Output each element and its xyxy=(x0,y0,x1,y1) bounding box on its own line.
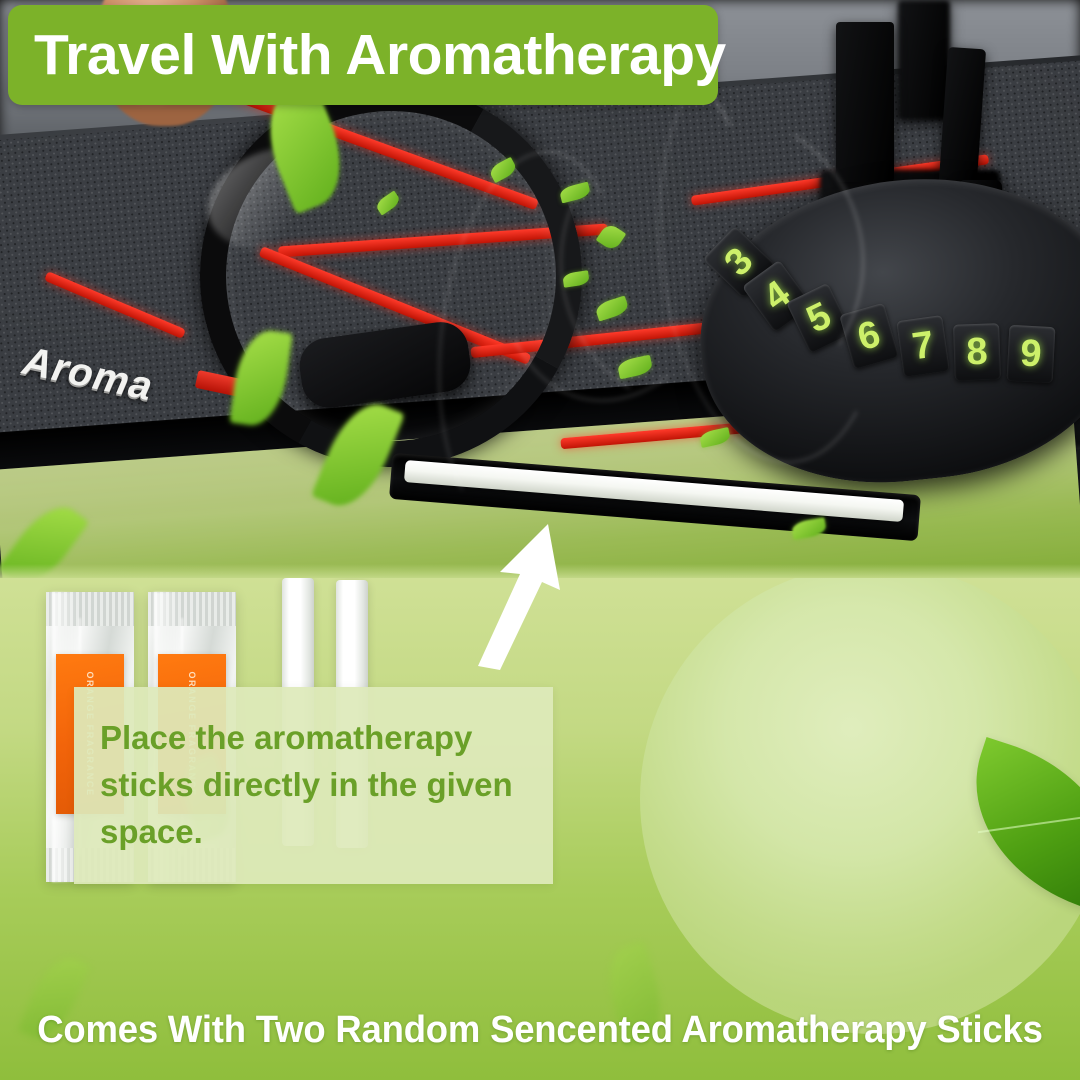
instruction-callout-box: Place the aromatherapy sticks directly i… xyxy=(74,687,553,884)
title-banner: Travel With Aromatherapy xyxy=(8,5,718,105)
instruction-text: Place the aromatherapy sticks directly i… xyxy=(74,715,553,856)
parking-number-tile: 8 xyxy=(953,323,1001,381)
product-infographic: 3 4 5 6 7 8 9 Aroma xyxy=(0,0,1080,1080)
page-title: Travel With Aromatherapy xyxy=(8,22,726,88)
parking-number-tile: 9 xyxy=(1007,325,1056,383)
parking-number-tile: 7 xyxy=(896,315,949,377)
dashboard-bracket xyxy=(898,0,950,120)
footer-caption: Comes With Two Random Sencented Aromathe… xyxy=(22,1009,1059,1052)
insert-arrow-icon xyxy=(456,520,586,670)
